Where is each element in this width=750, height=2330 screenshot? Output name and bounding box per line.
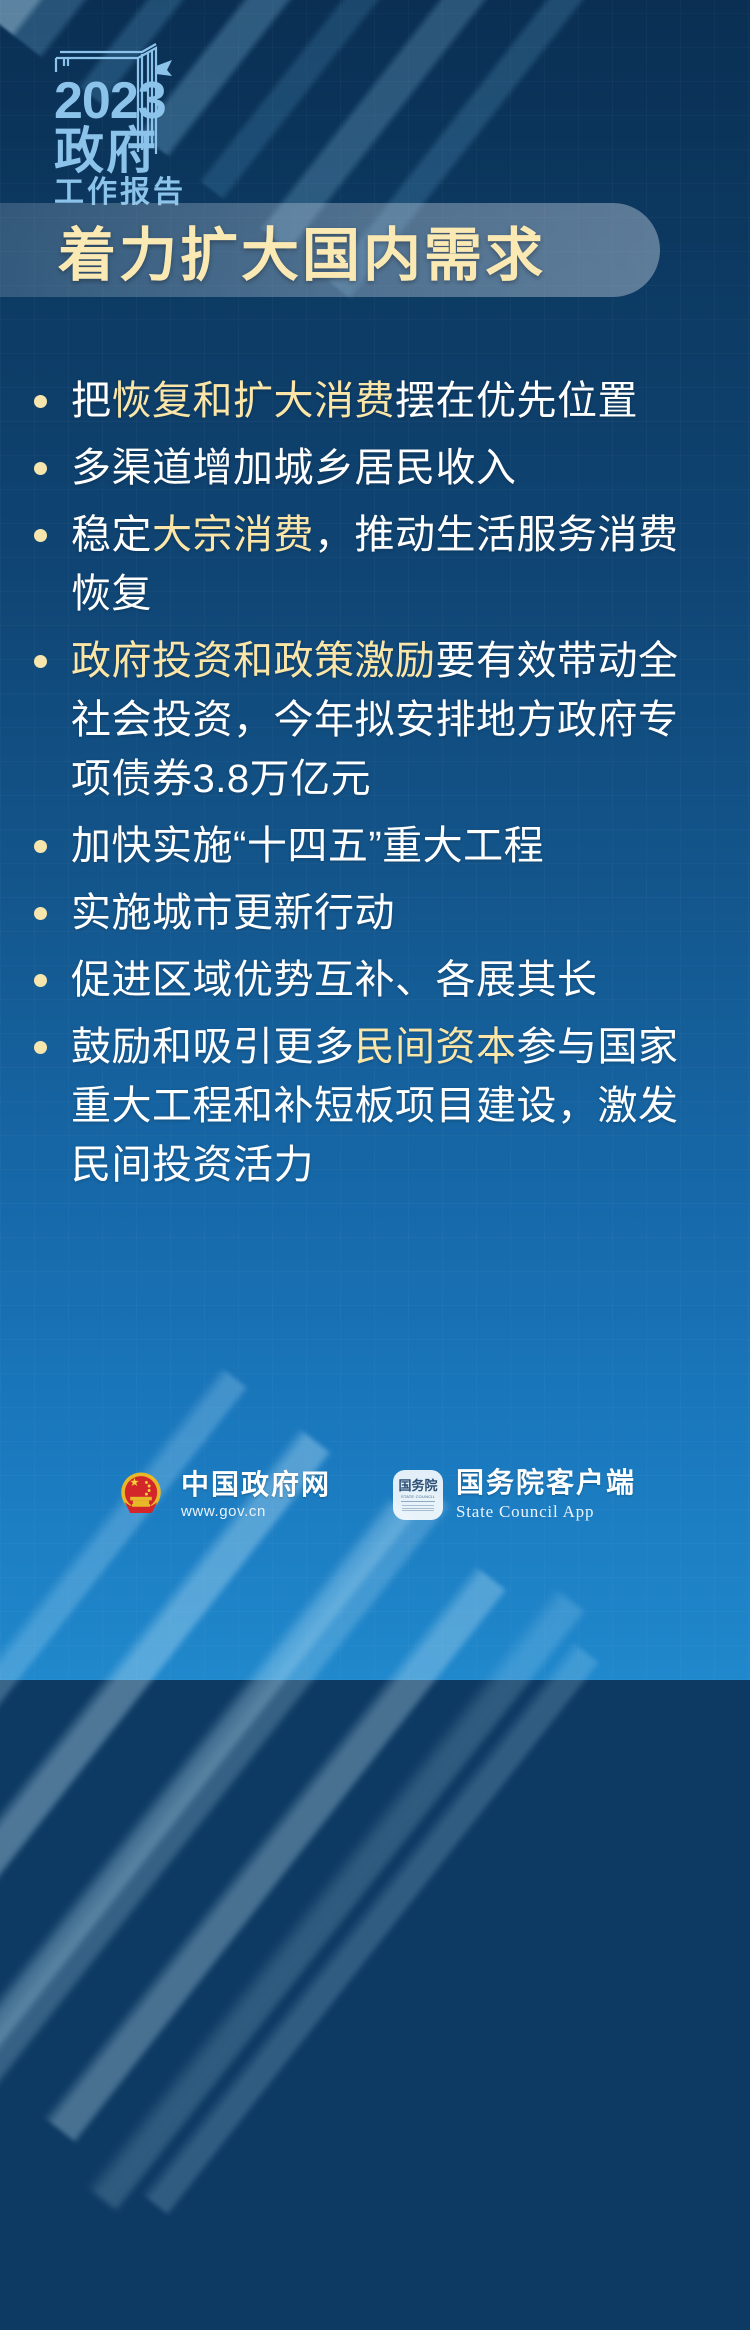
- text-segment: 鼓励和吸引更多: [71, 1025, 355, 1069]
- state-council-en-name: State Council App: [456, 1502, 636, 1522]
- list-item-text: 促进区域优势互补、各展其长: [71, 951, 686, 1010]
- bullet-dot-icon: [34, 529, 47, 542]
- bullet-dot-icon: [34, 1041, 47, 1054]
- list-item-text: 稳定大宗消费，推动生活服务消费恢复: [71, 506, 686, 624]
- highlighted-phrase: 政府投资和政策激励: [71, 639, 436, 683]
- state-council-badge-en: STATE COUNCIL: [401, 1494, 435, 1499]
- text-segment: 加快实施“十四五”重大工程: [71, 824, 544, 868]
- footer-logos: 中国政府网 www.gov.cn 国务院 STATE COUNCIL 国务院客户…: [0, 1468, 750, 1522]
- list-item: 促进区域优势互补、各展其长: [34, 951, 718, 1010]
- report-logo: 2023 政府 工作报告: [38, 42, 208, 182]
- text-segment: 多渠道增加城乡居民收入: [71, 446, 517, 490]
- national-emblem-icon: [114, 1468, 168, 1522]
- state-council-badge-cn: 国务院: [398, 1479, 437, 1492]
- bullet-dot-icon: [34, 907, 47, 920]
- page-title: 着力扩大国内需求: [58, 208, 546, 292]
- list-item: 稳定大宗消费，推动生活服务消费恢复: [34, 506, 718, 624]
- text-segment: 促进区域优势互补、各展其长: [71, 958, 598, 1002]
- text-segment: 摆在优先位置: [395, 379, 638, 423]
- list-item: 把恢复和扩大消费摆在优先位置: [34, 372, 718, 431]
- book-icon: 2023 政府: [38, 42, 208, 182]
- bullet-dot-icon: [34, 655, 47, 668]
- bullet-dot-icon: [34, 395, 47, 408]
- state-council-app-brand[interactable]: 国务院 STATE COUNCIL 国务院客户端 State Council A…: [393, 1468, 636, 1521]
- list-item: 多渠道增加城乡居民收入: [34, 439, 718, 498]
- state-council-app-icon: 国务院 STATE COUNCIL: [393, 1470, 443, 1520]
- list-item: 实施城市更新行动: [34, 884, 718, 943]
- highlighted-phrase: 民间资本: [355, 1025, 517, 1069]
- text-segment: 实施城市更新行动: [71, 891, 395, 935]
- highlighted-phrase: 恢复和扩大消费: [112, 379, 396, 423]
- list-item-text: 把恢复和扩大消费摆在优先位置: [71, 372, 686, 431]
- bullet-dot-icon: [34, 974, 47, 987]
- list-item: 加快实施“十四五”重大工程: [34, 817, 718, 876]
- list-item-text: 鼓励和吸引更多民间资本参与国家重大工程和补短板项目建设，激发民间投资活力: [71, 1018, 686, 1195]
- bullet-dot-icon: [34, 462, 47, 475]
- list-item-text: 加快实施“十四五”重大工程: [71, 817, 686, 876]
- text-segment: 稳定: [71, 513, 152, 557]
- highlighted-phrase: 大宗消费: [152, 513, 314, 557]
- list-item-text: 多渠道增加城乡居民收入: [71, 439, 686, 498]
- text-segment: 把: [71, 379, 112, 423]
- policy-bullet-list: 把恢复和扩大消费摆在优先位置多渠道增加城乡居民收入稳定大宗消费，推动生活服务消费…: [34, 372, 718, 1203]
- list-item-text: 政府投资和政策激励要有效带动全社会投资，今年拟安排地方政府专项债券3.8万亿元: [71, 632, 686, 809]
- state-council-name: 国务院客户端: [456, 1468, 636, 1498]
- gov-cn-brand[interactable]: 中国政府网 www.gov.cn: [114, 1468, 331, 1522]
- gov-cn-url: www.gov.cn: [181, 1503, 331, 1520]
- logo-year: 2023: [54, 72, 166, 130]
- page-title-banner: 着力扩大国内需求: [0, 203, 660, 297]
- list-item: 政府投资和政策激励要有效带动全社会投资，今年拟安排地方政府专项债券3.8万亿元: [34, 632, 718, 809]
- bullet-dot-icon: [34, 840, 47, 853]
- list-item-text: 实施城市更新行动: [71, 884, 686, 943]
- gov-cn-name: 中国政府网: [181, 1470, 331, 1500]
- list-item: 鼓励和吸引更多民间资本参与国家重大工程和补短板项目建设，激发民间投资活力: [34, 1018, 718, 1195]
